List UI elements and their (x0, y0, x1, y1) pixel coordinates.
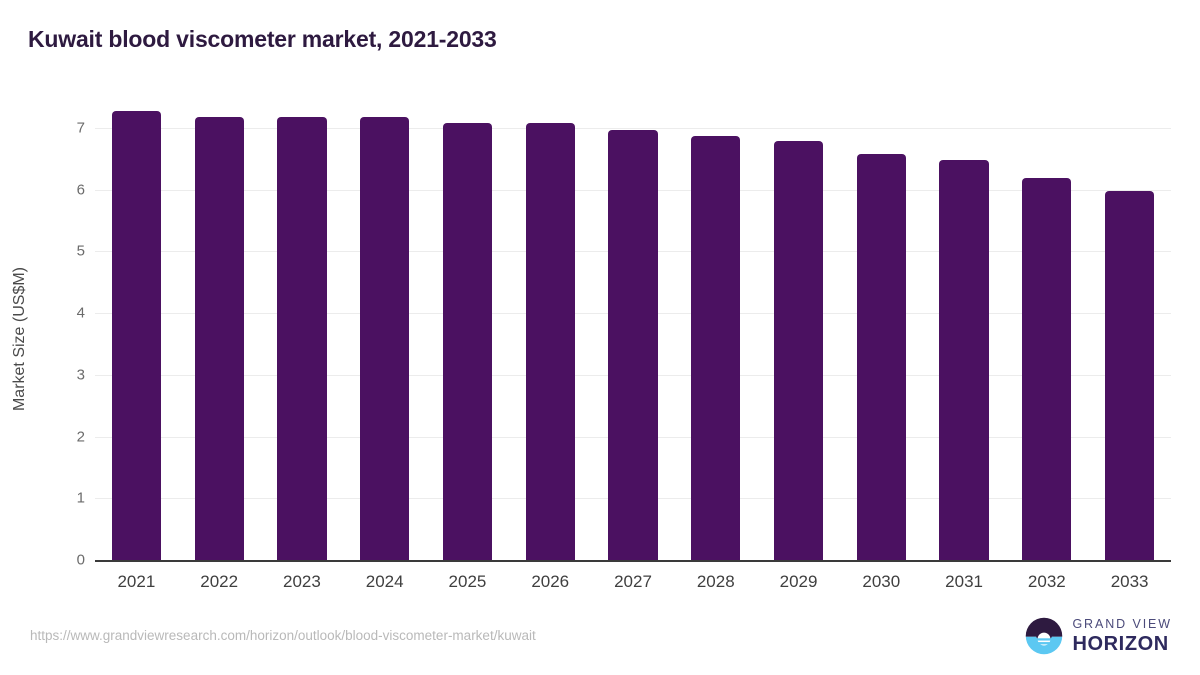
y-tick-label: 1 (51, 490, 85, 507)
chart-page: Kuwait blood viscometer market, 2021-203… (0, 0, 1200, 675)
bar[interactable] (939, 160, 988, 560)
bar[interactable] (857, 154, 906, 560)
plot-area (95, 100, 1171, 560)
logo-text-horizon: HORIZON (1072, 634, 1172, 654)
bar[interactable] (112, 111, 161, 561)
bar[interactable] (774, 141, 823, 560)
x-tick-label: 2027 (592, 572, 675, 592)
y-tick-label: 5 (51, 243, 85, 260)
x-tick-label: 2031 (923, 572, 1006, 592)
y-tick-label: 2 (51, 428, 85, 445)
x-tick-label: 2022 (178, 572, 261, 592)
source-url[interactable]: https://www.grandviewresearch.com/horizo… (30, 628, 536, 643)
x-tick-label: 2033 (1088, 572, 1171, 592)
x-axis-line (95, 560, 1171, 562)
y-tick-label: 6 (51, 181, 85, 198)
brand-logo[interactable]: GRAND VIEW HORIZON (1025, 617, 1172, 655)
y-tick-label: 7 (51, 119, 85, 136)
bar[interactable] (1105, 191, 1154, 560)
bar[interactable] (691, 136, 740, 560)
y-axis-title: Market Size (US$M) (11, 159, 29, 519)
x-tick-label: 2029 (757, 572, 840, 592)
gridline (95, 128, 1171, 129)
y-tick-label: 0 (51, 552, 85, 569)
x-tick-label: 2026 (509, 572, 592, 592)
logo-text: GRAND VIEW HORIZON (1072, 618, 1172, 654)
y-tick-label: 3 (51, 366, 85, 383)
x-tick-label: 2023 (261, 572, 344, 592)
bar[interactable] (1022, 178, 1071, 560)
y-tick-label: 4 (51, 305, 85, 322)
bar[interactable] (443, 123, 492, 560)
grand-view-horizon-logo-icon (1025, 617, 1063, 655)
page-title: Kuwait blood viscometer market, 2021-203… (28, 26, 497, 53)
bar[interactable] (608, 130, 657, 560)
bar[interactable] (277, 117, 326, 560)
bar[interactable] (360, 117, 409, 560)
x-tick-label: 2021 (95, 572, 178, 592)
x-tick-label: 2024 (343, 572, 426, 592)
x-tick-label: 2028 (674, 572, 757, 592)
bar[interactable] (195, 117, 244, 560)
y-axis-tick-labels: 01234567 (45, 0, 85, 675)
x-tick-label: 2025 (426, 572, 509, 592)
bar[interactable] (526, 123, 575, 560)
x-tick-label: 2030 (840, 572, 923, 592)
x-tick-label: 2032 (1005, 572, 1088, 592)
logo-text-grand-view: GRAND VIEW (1072, 618, 1172, 631)
